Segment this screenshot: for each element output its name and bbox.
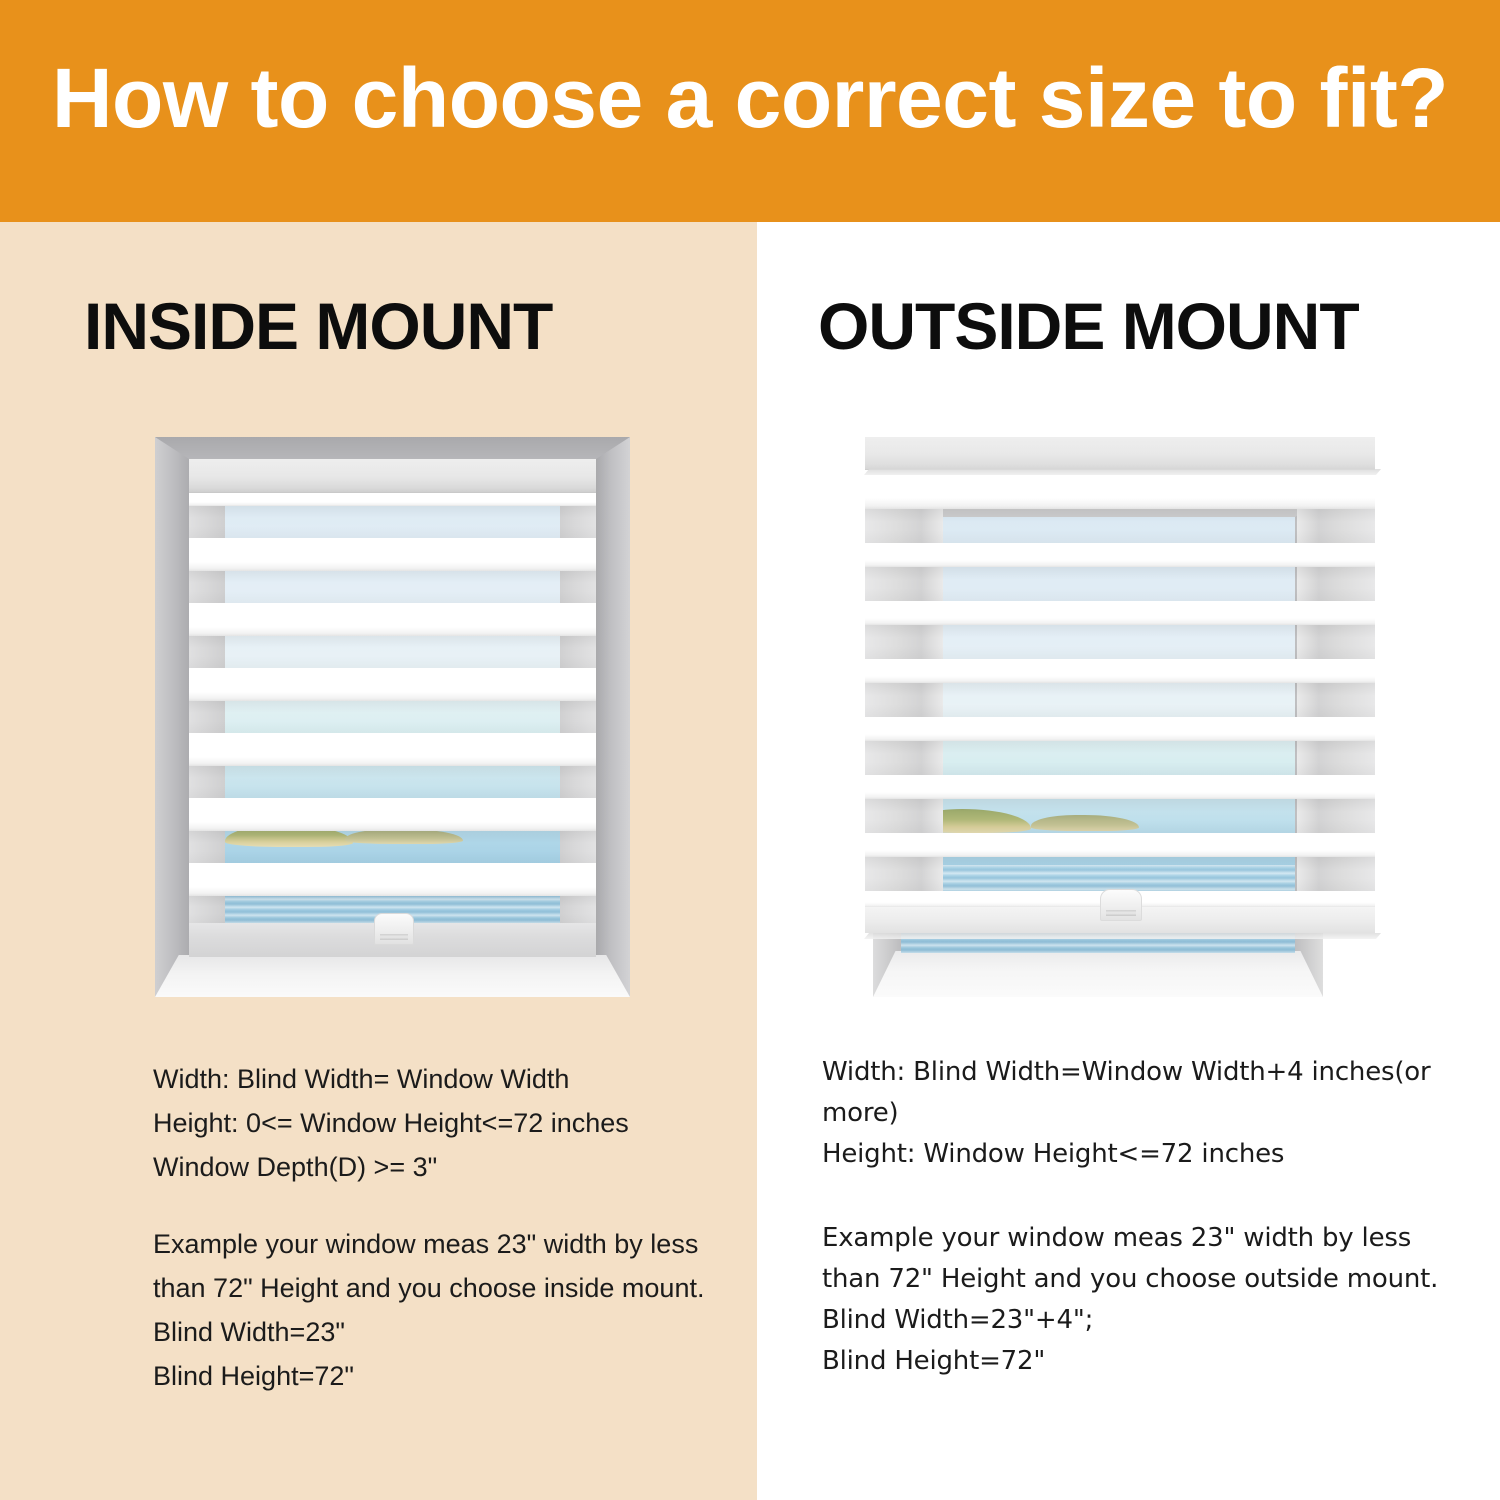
blind-side-channel-left: [189, 635, 225, 669]
window-sill: [873, 951, 1323, 997]
blind-opaque-band: [865, 601, 1375, 625]
blind-slat-overhang-right: [1297, 625, 1375, 659]
blind-side-channel-left: [189, 765, 225, 799]
window-reveal-right: [596, 437, 630, 997]
blind-slat-overhang-left: [865, 683, 943, 717]
blind-opaque-band: [865, 470, 1375, 509]
blind-opaque-band: [189, 863, 596, 896]
heading-inside-mount: INSIDE MOUNT: [84, 290, 552, 362]
blind-side-channel-left: [189, 570, 225, 604]
blind-side-channel-right: [560, 765, 596, 799]
blind-side-channel-left: [189, 505, 225, 539]
blind-opaque-band: [865, 659, 1375, 683]
inside-mount-spec-text: Width: Blind Width= Window Width Height:…: [153, 1057, 733, 1189]
blind-pull-handle[interactable]: [374, 913, 414, 945]
blind-headrail[interactable]: [189, 459, 596, 493]
blind-slat-overhang-left: [865, 857, 943, 891]
blind-side-channel-right: [560, 570, 596, 604]
blind-side-channel-right: [560, 895, 596, 925]
blind-slat-overhang-right: [1297, 741, 1375, 775]
blind-opaque-band: [189, 492, 596, 506]
blind-side-channel-right: [560, 830, 596, 864]
window-sill: [155, 955, 630, 997]
inside-mount-window-illustration: [155, 437, 630, 997]
blind-side-channel-left: [189, 700, 225, 734]
blind-headrail[interactable]: [865, 437, 1375, 470]
blind-slat-overhang-right: [1297, 683, 1375, 717]
island-shape-far: [1031, 815, 1139, 831]
blind-slat-overhang-left: [865, 625, 943, 659]
infographic-page: How to choose a correct size to fit? INS…: [0, 0, 1500, 1500]
header-banner: How to choose a correct size to fit?: [0, 0, 1500, 222]
blind-opaque-band: [189, 668, 596, 701]
heading-outside-mount: OUTSIDE MOUNT: [818, 290, 1359, 362]
island-shape-far: [345, 829, 463, 844]
blind-side-channel-right: [560, 635, 596, 669]
blind-opaque-band: [865, 717, 1375, 741]
page-title: How to choose a correct size to fit?: [0, 48, 1500, 148]
blind-slat-overhang-left: [865, 509, 943, 543]
blind-pull-handle[interactable]: [1100, 889, 1142, 921]
blind-slat-overhang-right: [1297, 509, 1375, 543]
blind-slat-overhang-right: [1297, 857, 1375, 891]
blind-slat-overhang-left: [865, 799, 943, 833]
window-opening: [189, 459, 596, 957]
blind-side-channel-right: [560, 700, 596, 734]
blind-slat-overhang-left: [865, 567, 943, 601]
blind-opaque-band: [189, 798, 596, 831]
blind-side-channel-left: [189, 830, 225, 864]
window-reveal-left: [155, 437, 189, 997]
inside-mount-example-text: Example your window meas 23" width by le…: [153, 1222, 733, 1398]
blind-side-channel-left: [189, 895, 225, 925]
blind-opaque-band: [189, 538, 596, 571]
blind-opaque-band: [189, 603, 596, 636]
outside-mount-window-illustration: [865, 437, 1375, 997]
outside-mount-spec-text: Width: Blind Width=Window Width+4 inches…: [822, 1052, 1442, 1175]
window-reveal-top: [155, 437, 630, 461]
blind-opaque-band: [189, 733, 596, 766]
blind-side-channel-right: [560, 505, 596, 539]
blind-opaque-band: [865, 775, 1375, 799]
outside-mount-example-text: Example your window meas 23" width by le…: [822, 1218, 1442, 1382]
blind-slat-overhang-right: [1297, 799, 1375, 833]
blind-opaque-band: [865, 833, 1375, 857]
blind-slat-overhang-right: [1297, 567, 1375, 601]
blind-opaque-band: [865, 543, 1375, 567]
blind-slat-overhang-left: [865, 741, 943, 775]
